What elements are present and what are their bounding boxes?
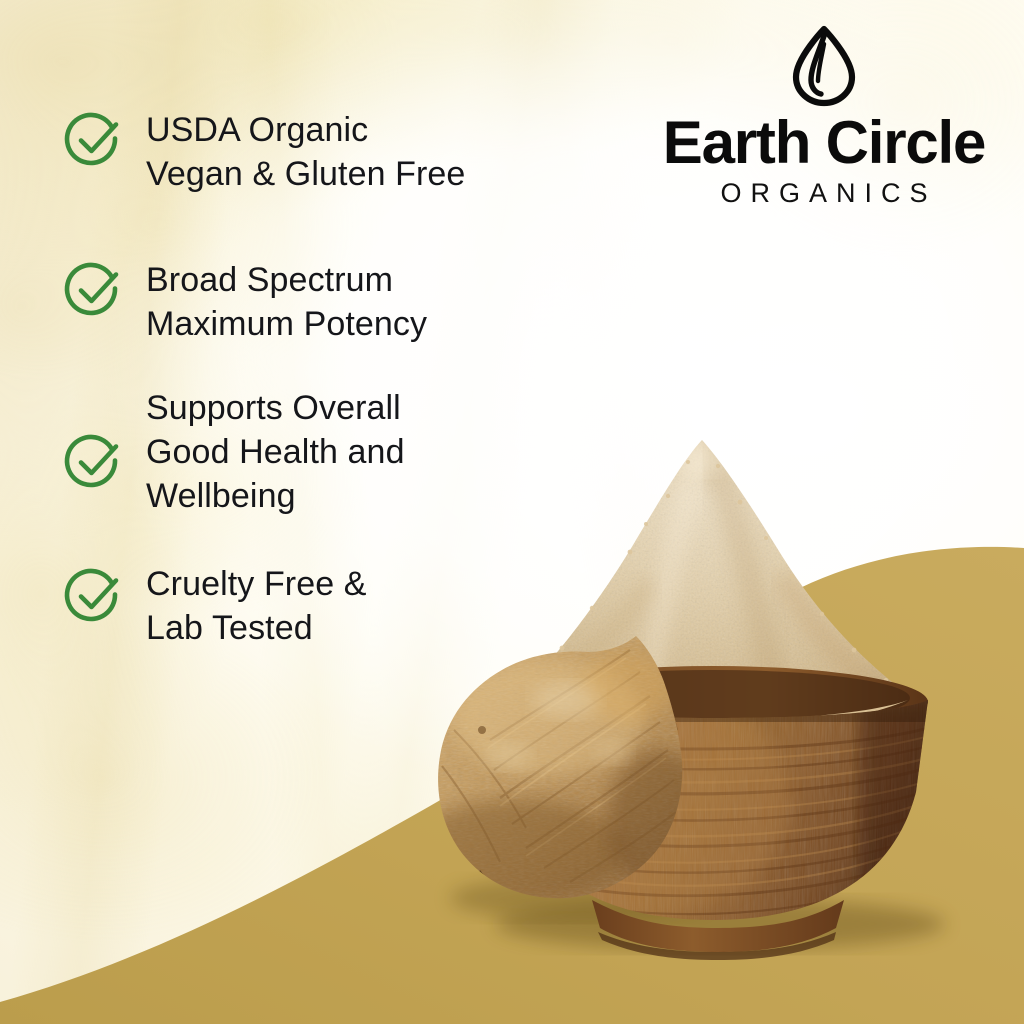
brand-logo: Earth Circle ORGANICS — [648, 24, 1000, 210]
list-item-label: USDA Organic Vegan & Gluten Free — [146, 108, 465, 196]
check-circle-icon — [62, 430, 126, 494]
check-circle-icon — [62, 564, 126, 628]
product-infographic: USDA Organic Vegan & Gluten Free Broad S… — [0, 0, 1024, 1024]
list-item: Broad Spectrum Maximum Potency — [62, 258, 427, 346]
product-photo — [330, 400, 1024, 1000]
brand-name: Earth Circle — [648, 112, 1000, 174]
check-circle-icon — [62, 108, 126, 172]
list-item-label: Broad Spectrum Maximum Potency — [146, 258, 427, 346]
leaf-droplet-icon — [788, 24, 860, 110]
list-item: Cruelty Free & Lab Tested — [62, 562, 367, 650]
check-circle-icon — [62, 258, 126, 322]
list-item: USDA Organic Vegan & Gluten Free — [62, 108, 465, 196]
brand-subtitle: ORGANICS — [648, 176, 1000, 210]
